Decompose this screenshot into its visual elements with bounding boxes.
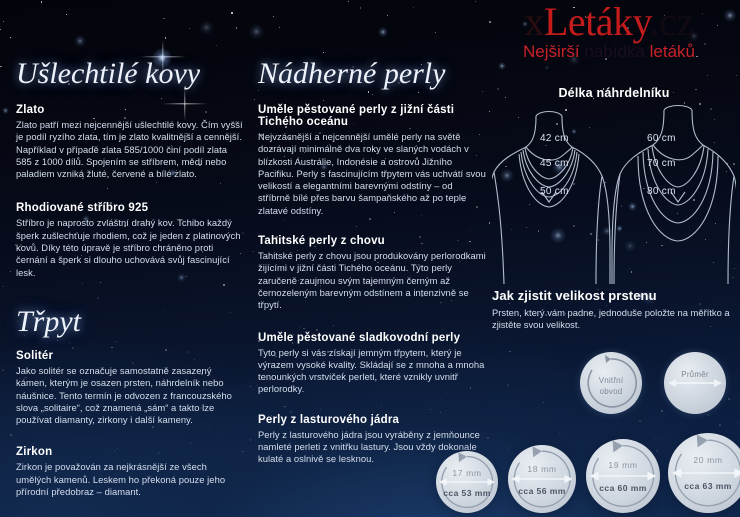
site-header: xLetáky.cz Nejširší nabídka letáků — [484, 0, 734, 62]
heading-nadherne-perly: Nádherné perly — [258, 55, 486, 93]
necklace-label-60cm: 60 cm — [647, 133, 676, 144]
ring-size-mm-label: 19 mm — [586, 460, 660, 470]
ring-panel-title: Jak zjistit velikost prstenu — [492, 288, 740, 303]
necklace-label-42cm: 42 cm — [540, 133, 569, 144]
ring-size-scale: 17 mmcca 53 mm18 mmcca 56 mm19 mmcca 60 … — [436, 424, 740, 517]
necklace-label-80cm: 80 cm — [647, 186, 676, 197]
ring-panel-body: Prsten, který vám padne, jednoduše polož… — [492, 307, 740, 332]
ring-size-circumference-label: cca 56 mm — [504, 486, 580, 496]
section-body: Nejvzácnější a nejcennější umělé perly n… — [258, 131, 486, 217]
section-title: Uměle pěstované perly z jižní části Tich… — [258, 104, 486, 128]
section-body: Stříbro je naprosto zvláštní drahý kov. … — [16, 217, 244, 278]
logo-prefix: x — [525, 0, 545, 44]
heading-trpyt: Třpyt — [16, 303, 244, 341]
section-tahitske-perly: Tahitské perly z chovu Tahitské perly z … — [258, 235, 486, 311]
ring-legend: Vnitřní obvod Průměr — [580, 352, 740, 414]
section-title: Tahitské perly z chovu — [258, 235, 486, 247]
flyer-page: xLetáky.cz Nejširší nabídka letáků Ušlec… — [0, 0, 740, 517]
necklace-label-45cm: 45 cm — [540, 158, 569, 169]
section-title: Uměle pěstované sladkovodní perly — [258, 332, 486, 344]
section-body: Zirkon je považován za nejkrásnější ze v… — [16, 461, 244, 498]
logo[interactable]: xLetáky.cz — [484, 0, 734, 44]
section-zlato: Zlato Zlato patří mezi nejcennější ušlec… — [16, 104, 244, 180]
column-pearls: Nádherné perly Uměle pěstované perly z j… — [258, 55, 486, 466]
ring-size-circumference-label: cca 60 mm — [582, 483, 664, 493]
legend-label-inner-2: obvod — [580, 387, 642, 396]
section-body: Tahitské perly z chovu jsou produkovány … — [258, 250, 486, 311]
ring-size-arrows-icon — [436, 451, 498, 513]
ring-size-arrows-icon — [668, 433, 740, 513]
legend-label-inner-1: Vnitřní — [580, 376, 642, 385]
section-jizni-pacifik-perly: Uměle pěstované perly z jižní části Tich… — [258, 104, 486, 217]
tagline: Nejširší nabídka letáků — [484, 42, 734, 62]
section-title: Rhodiované stříbro 925 — [16, 202, 244, 214]
heading-uslechtile-kovy: Ušlechtilé kovy — [16, 55, 244, 93]
section-sladkovodni-perly: Uměle pěstované sladkovodní perly Tyto p… — [258, 332, 486, 396]
necklace-panel-title: Délka náhrdelníku — [492, 86, 736, 100]
ring-size-arrows-icon — [586, 439, 660, 513]
section-body: Tyto perly si vás získají jemným třpytem… — [258, 347, 486, 396]
necklace-label-50cm: 50 cm — [540, 186, 569, 197]
section-zirkon: Zirkon Zirkon je považován za nejkrásněj… — [16, 446, 244, 498]
logo-tld: .cz — [649, 0, 693, 44]
logo-main: Letáky — [544, 0, 649, 44]
ring-size-circumference-label: cca 53 mm — [432, 488, 502, 498]
diameter-arrow-icon — [664, 352, 726, 414]
ring-size-mm-label: 18 mm — [508, 464, 576, 474]
tagline-word-1: Nejširší — [523, 42, 580, 61]
section-title: Zirkon — [16, 446, 244, 458]
section-title: Zlato — [16, 104, 244, 116]
necklace-length-panel: Délka náhrdelníku — [492, 86, 736, 284]
section-body: Zlato patří mezi nejcennější ušlechtilé … — [16, 119, 244, 180]
ring-size-mm-label: 17 mm — [436, 468, 498, 478]
section-rhodiovane-stribro: Rhodiované stříbro 925 Stříbro je napros… — [16, 202, 244, 278]
ring-size-panel: Jak zjistit velikost prstenu Prsten, kte… — [492, 288, 740, 332]
tagline-word-2: nabídka — [584, 42, 645, 61]
section-soliter: Solitér Jako solitér se označuje samosta… — [16, 350, 244, 426]
legend-label-diameter-1: Průměr — [664, 370, 726, 379]
section-body: Jako solitér se označuje samostatně zasa… — [16, 365, 244, 426]
ring-size-mm-label: 20 mm — [668, 455, 740, 465]
necklace-diagram: 42 cm 45 cm 50 cm 60 cm 70 cm 80 cm — [492, 104, 736, 284]
tagline-word-3: letáků — [650, 42, 695, 61]
column-precious-metals: Ušlechtilé kovy Zlato Zlato patří mezi n… — [16, 55, 244, 498]
ring-size-arrows-icon — [508, 445, 576, 513]
ring-size-circumference-label: cca 63 mm — [664, 481, 740, 491]
necklace-label-70cm: 70 cm — [647, 158, 676, 169]
necklace-figures-svg — [492, 104, 736, 284]
section-title: Solitér — [16, 350, 244, 362]
